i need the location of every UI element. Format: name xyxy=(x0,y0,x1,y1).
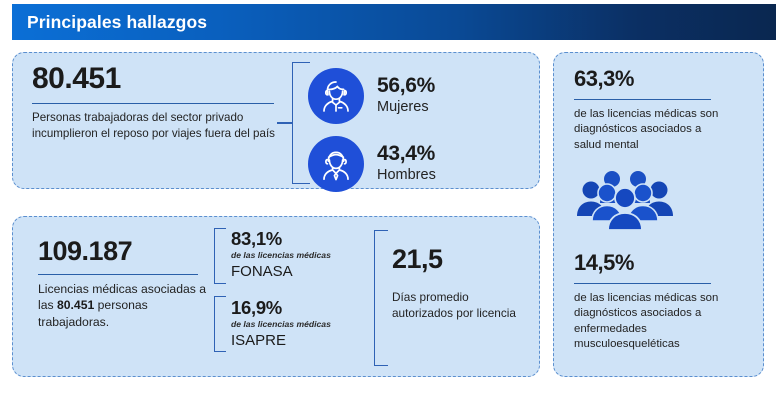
bracket-isapre xyxy=(214,296,226,352)
infographic-page: Principales hallazgos 80.451 Personas tr… xyxy=(0,0,776,400)
isapre-percent: 16,9% xyxy=(231,298,331,317)
stat-musculoskeletal-percent: 14,5% xyxy=(574,252,634,274)
stat-musculoskeletal-description: de las licencias médicas son diagnóstico… xyxy=(574,291,724,353)
desc-highlight: 80.451 xyxy=(57,298,94,312)
gender-women-text: 56,6% Mujeres xyxy=(377,75,435,116)
divider-rule xyxy=(32,103,274,104)
gender-row-men: 43,4% Hombres xyxy=(308,136,436,192)
gender-women-label: Mujeres xyxy=(377,99,435,116)
stat-days-average: 21,5 xyxy=(392,246,443,273)
isapre-label: ISAPRE xyxy=(231,332,331,349)
woman-avatar-icon xyxy=(308,68,364,124)
gender-row-women: 56,6% Mujeres xyxy=(308,68,435,124)
divider-rule xyxy=(574,283,711,284)
divider-rule xyxy=(38,274,198,275)
stat-workers-count: 80.451 xyxy=(32,64,121,94)
isapre-subtitle: de las licencias médicas xyxy=(231,319,331,329)
stat-block-isapre: 16,9% de las licencias médicas ISAPRE xyxy=(231,298,331,349)
fonasa-percent: 83,1% xyxy=(231,229,331,248)
page-title: Principales hallazgos xyxy=(12,12,207,33)
bracket-stem xyxy=(277,122,293,124)
divider-rule xyxy=(574,99,711,100)
stat-days-description: Días promedio autorizados por licencia xyxy=(392,290,532,322)
stat-mental-health-description: de las licencias médicas son diagnóstico… xyxy=(574,107,724,153)
gender-men-label: Hombres xyxy=(377,167,436,184)
stat-workers-description: Personas trabajadoras del sector privado… xyxy=(32,110,280,141)
stat-block-fonasa: 83,1% de las licencias médicas FONASA xyxy=(231,229,331,280)
stat-mental-health-percent: 63,3% xyxy=(574,68,634,90)
stat-licenses-count: 109.187 xyxy=(38,238,132,265)
bracket-fonasa xyxy=(214,228,226,284)
group-of-people-icon xyxy=(570,170,682,234)
fonasa-label: FONASA xyxy=(231,263,331,280)
bracket-days xyxy=(374,230,388,366)
fonasa-subtitle: de las licencias médicas xyxy=(231,250,331,260)
man-avatar-icon xyxy=(308,136,364,192)
gender-men-text: 43,4% Hombres xyxy=(377,143,436,184)
gender-women-percent: 56,6% xyxy=(377,75,435,97)
gender-men-percent: 43,4% xyxy=(377,143,436,165)
stat-licenses-description: Licencias médicas asociadas a las 80.451… xyxy=(38,281,208,330)
header-banner: Principales hallazgos xyxy=(12,4,776,40)
